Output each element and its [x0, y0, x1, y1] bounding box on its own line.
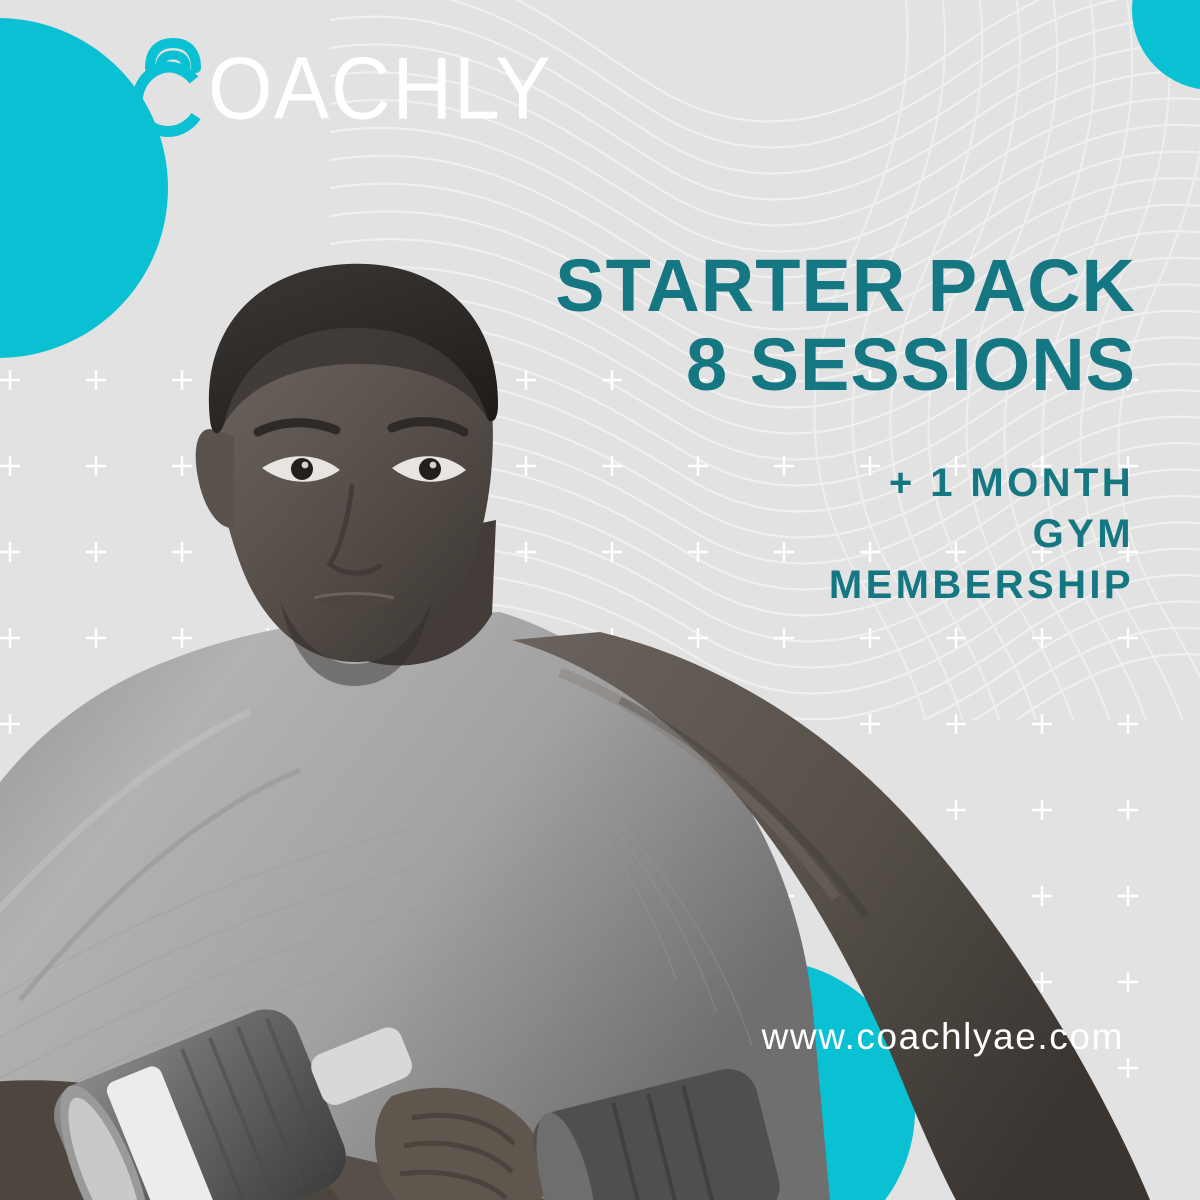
brand-logo-text: OACHLY: [208, 44, 552, 132]
offer-subheadline: + 1 MONTH GYM MEMBERSHIP: [829, 458, 1134, 612]
headline-line-1: STARTER PACK: [555, 246, 1136, 325]
headline-line-2: 8 SESSIONS: [555, 325, 1136, 404]
subheadline-line-1: + 1 MONTH: [829, 458, 1134, 509]
subheadline-line-2: GYM: [829, 509, 1134, 560]
promo-poster: OACHLY STARTER PACK 8 SESSIONS + 1 MONTH…: [0, 0, 1200, 1200]
kettlebell-icon: [128, 38, 202, 138]
offer-headline: STARTER PACK 8 SESSIONS: [555, 246, 1136, 404]
website-url[interactable]: www.coachlyae.com: [762, 1018, 1124, 1055]
brand-logo[interactable]: OACHLY: [128, 36, 552, 140]
subheadline-line-3: MEMBERSHIP: [829, 560, 1134, 611]
